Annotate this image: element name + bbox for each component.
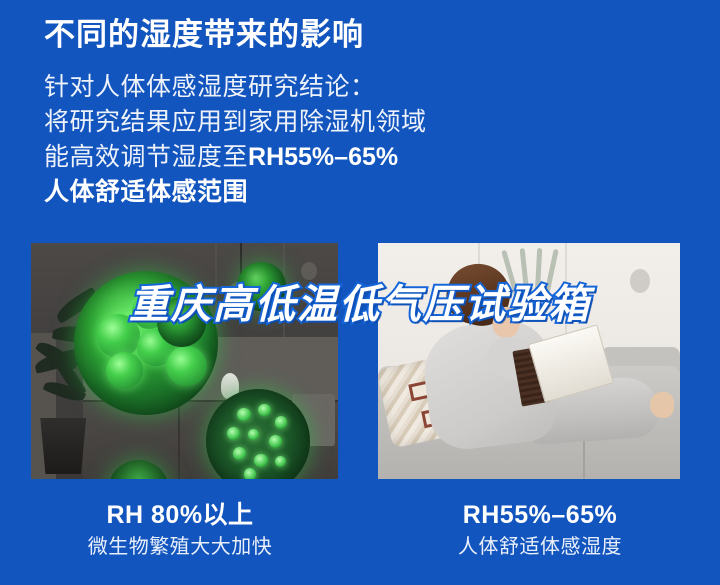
wall-speaker-icon [301,262,317,280]
virus-spike [227,427,241,440]
caption-left-title: RH 80%以上 [0,498,360,532]
virus-spike [275,416,288,428]
plant-stem [519,248,530,310]
virus-spike [269,435,283,448]
lead-paragraph: 针对人体体感湿度研究结论： 将研究结果应用到家用除湿机领域 能高效调节湿度至RH… [44,70,684,210]
cell-cluster [74,271,218,415]
plant-pot-shape [37,418,89,475]
lead-line-1: 针对人体体感湿度研究结论： [44,70,684,105]
microbe-cluster-large [74,271,218,415]
lead-line-2: 将研究结果应用到家用除湿机领域 [44,105,684,140]
page-title: 不同的湿度带来的影响 [44,12,684,58]
person-foot [650,392,674,418]
humidity-infographic-poster: 不同的湿度带来的影响 针对人体体感湿度研究结论： 将研究结果应用到家用除湿机领域… [0,0,720,585]
caption-right-subtitle: 人体舒适体感湿度 [360,532,720,562]
dark-room-photo [31,243,338,479]
plant-stem [541,249,559,310]
lead-line-3-prefix: 能高效调节湿度至 [44,143,248,171]
lead-line-4: 人体舒适体感范围 [44,175,684,210]
virus-spike [258,404,271,416]
photo-panel-left [31,243,338,479]
microbe-cell [106,352,144,389]
caption-left-subtitle: 微生物繁殖大大加快 [0,532,360,562]
virus-sphere-large [206,389,310,479]
virus-spike [275,456,286,467]
caption-left: RH 80%以上 微生物繁殖大大加快 [0,498,360,585]
virus-spike [254,454,268,467]
virus-spike [248,429,259,440]
microbe-small [157,297,206,347]
header-text-block: 不同的湿度带来的影响 针对人体体感湿度研究结论： 将研究结果应用到家用除湿机领域… [44,12,684,210]
microbe-small [237,262,286,312]
virus-spike [237,408,251,421]
dried-plant-decor [514,248,553,309]
lead-line-3: 能高效调节湿度至RH55%–65% [44,140,684,175]
caption-right: RH55%–65% 人体舒适体感湿度 [360,498,720,585]
caption-right-title: RH55%–65% [360,498,720,532]
virus-spike [244,468,257,479]
photo-panels [0,243,720,479]
lead-line-3-range: RH55%–65% [248,143,398,171]
bright-room-photo [378,243,680,479]
photo-panel-right [378,243,680,479]
virus-spikes [206,389,310,479]
caption-row: RH 80%以上 微生物繁殖大大加快 RH55%–65% 人体舒适体感湿度 [0,498,720,585]
microbe-cell [166,346,206,386]
plant-stem [534,248,542,310]
virus-spike [233,447,246,459]
wall-speaker-icon [630,269,650,293]
